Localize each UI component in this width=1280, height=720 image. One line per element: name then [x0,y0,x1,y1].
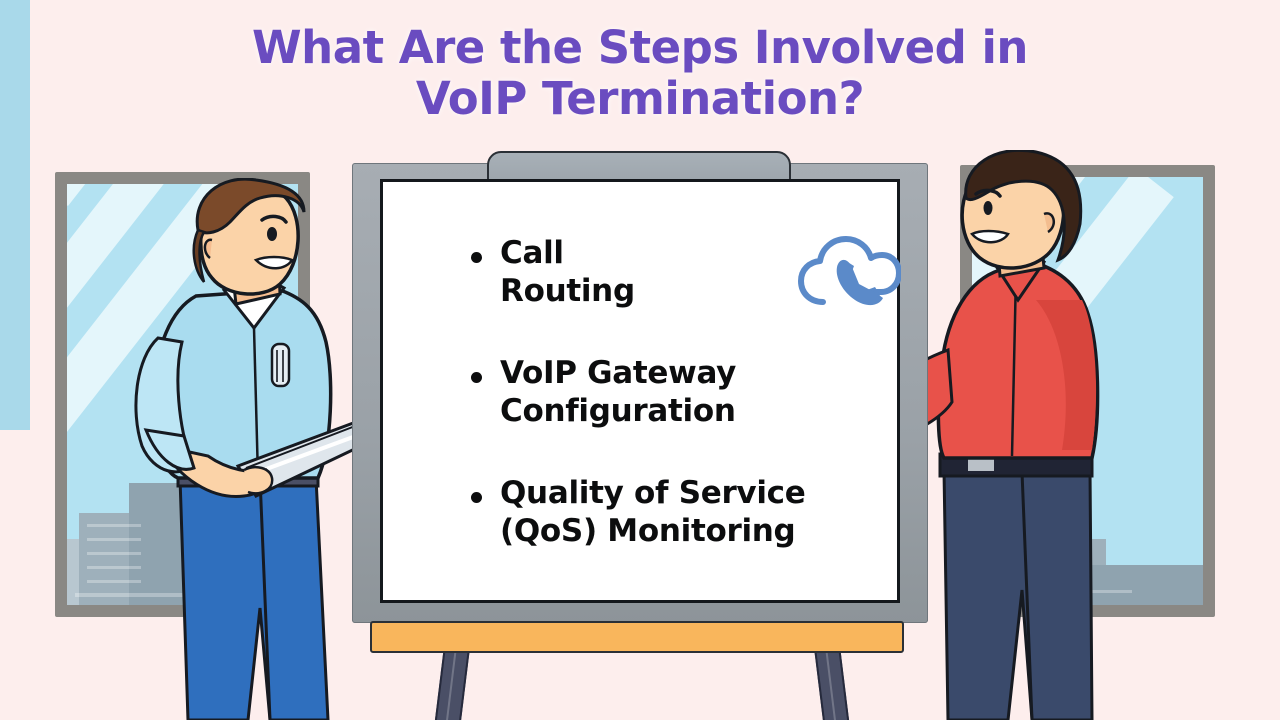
bullet-label: VoIP Gateway Configuration [500,354,736,430]
leg-highlight [825,647,856,720]
bullet-dot-icon [471,492,482,503]
whiteboard-frame: Call Routing VoIP Gateway Configuration … [352,163,928,623]
bullet-dot-icon [471,372,482,383]
easel-leg-right [814,645,869,720]
whiteboard-tray [370,621,904,653]
bullet-label: Quality of Service (QoS) Monitoring [500,474,805,550]
bullet-list: Call Routing VoIP Gateway Configuration … [471,234,891,594]
poster-canvas: Call Routing VoIP Gateway Configuration … [0,0,1280,720]
list-item: VoIP Gateway Configuration [471,354,891,430]
whiteboard-surface: Call Routing VoIP Gateway Configuration … [380,179,900,603]
bullet-dot-icon [471,252,482,263]
list-item: Quality of Service (QoS) Monitoring [471,474,891,550]
page-title: What Are the Steps Involved in VoIP Term… [0,22,1280,124]
leg-highlight [426,647,457,720]
easel-leg-left [415,645,470,720]
list-item: Call Routing [471,234,891,310]
bullet-label: Call Routing [500,234,635,310]
whiteboard-easel: Call Routing VoIP Gateway Configuration … [352,163,928,720]
